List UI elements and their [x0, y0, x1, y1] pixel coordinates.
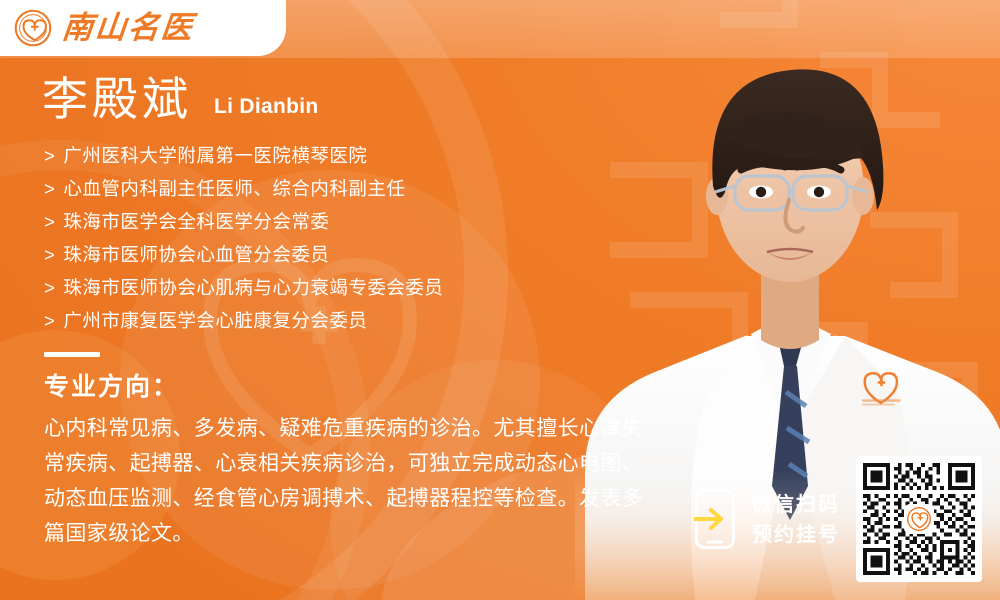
wechat-line-1: 微信扫码 — [752, 489, 840, 519]
doctor-name-cn: 李殿斌 — [42, 76, 192, 122]
credential-list: > 广州医科大学附属第一医院横琴医院 > 心血管内科副主任医师、综合内科副主任 … — [44, 140, 680, 338]
doctor-name-en: Li Dianbin — [214, 95, 319, 119]
list-item: > 广州医科大学附属第一医院横琴医院 — [44, 140, 680, 173]
doctor-name-row: 李殿斌 Li Dianbin — [42, 76, 680, 122]
chevron-right-icon: > — [44, 173, 55, 205]
section-divider — [44, 352, 100, 357]
chevron-right-icon: > — [44, 239, 55, 271]
qr-center-logo — [904, 504, 934, 534]
heart-cross-circle-logo-icon — [14, 9, 52, 47]
specialty-title: 专业方向： — [44, 367, 680, 403]
wechat-line-2: 预约挂号 — [752, 519, 840, 549]
chevron-right-icon: > — [44, 272, 55, 304]
chevron-right-icon: > — [44, 305, 55, 337]
wechat-booking-block[interactable]: 微信扫码 预约挂号 — [694, 456, 982, 582]
list-item: > 珠海市医师协会心血管分会委员 — [44, 239, 680, 272]
qr-code[interactable] — [856, 456, 982, 582]
credential-text: 心血管内科副主任医师、综合内科副主任 — [63, 174, 405, 206]
credential-text: 珠海市医师协会心血管分会委员 — [63, 240, 329, 272]
credential-text: 珠海市医学会全科医学分会常委 — [63, 207, 329, 239]
list-item: > 心血管内科副主任医师、综合内科副主任 — [44, 173, 680, 206]
list-item: > 广州市康复医学会心脏康复分会委员 — [44, 305, 680, 338]
profile-content: 李殿斌 Li Dianbin > 广州医科大学附属第一医院横琴医院 > 心血管内… — [0, 0, 680, 551]
phone-scan-icon — [694, 488, 736, 550]
credential-text: 广州医科大学附属第一医院横琴医院 — [63, 141, 367, 173]
chevron-right-icon: > — [44, 206, 55, 238]
heart-cross-logo-icon — [906, 506, 932, 532]
wechat-label: 微信扫码 预约挂号 — [752, 489, 840, 549]
chevron-right-icon: > — [44, 140, 55, 172]
credential-text: 珠海市医师协会心肌病与心力衰竭专委会委员 — [63, 273, 443, 305]
list-item: > 珠海市医学会全科医学分会常委 — [44, 206, 680, 239]
brand-name: 南山名医 — [60, 13, 195, 44]
list-item: > 珠海市医师协会心肌病与心力衰竭专委会委员 — [44, 272, 680, 305]
brand-banner: 南山名医 — [0, 0, 286, 56]
credential-text: 广州市康复医学会心脏康复分会委员 — [63, 306, 367, 338]
specialty-body: 心内科常见病、多发病、疑难危重疾病的诊治。尤其擅长心律失常疾病、起搏器、心衰相关… — [44, 411, 656, 551]
doctor-profile-card: 南山名医 李殿斌 Li Dianbin > 广州医科大学附属第一医院横琴医院 >… — [0, 0, 1000, 600]
